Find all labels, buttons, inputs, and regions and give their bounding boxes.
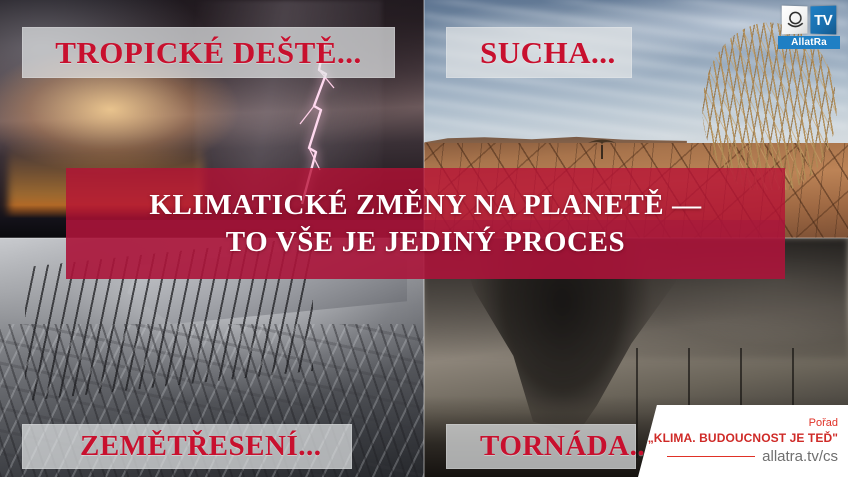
allatra-sphere-icon	[782, 6, 808, 35]
caption-earthquake-label: ZEMĚTŘESENÍ...	[80, 430, 321, 463]
tv-label: TV	[814, 11, 832, 28]
banner-text-block: KLIMATICKÉ ZMĚNY NA PLANETĚ — TO VŠE JE …	[66, 168, 785, 279]
caption-tropical-rain-label: TROPICKÉ DEŠTĚ...	[55, 35, 362, 71]
lone-tree-icon	[585, 129, 619, 164]
poster-title-line-2: TO VŠE JE JEDINÝ PROCES	[226, 225, 626, 259]
caption-tornado: TORNÁDA...	[446, 424, 636, 469]
caption-tropical-rain: TROPICKÉ DEŠTĚ...	[22, 27, 395, 78]
footer-kicker: Pořad	[809, 417, 838, 430]
footer-show-title: „KLIMA. BUDOUCNOST JE TEĎ"	[648, 431, 838, 445]
logo-marks: TV	[778, 6, 840, 34]
allatra-tv-logo[interactable]: TV AllatRa	[778, 6, 840, 56]
footer-url[interactable]: allatra.tv/cs	[762, 448, 838, 465]
poster-title-line-1: KLIMATICKÉ ZMĚNY NA PLANETĚ —	[149, 188, 701, 222]
tv-badge: TV	[811, 6, 837, 35]
footer-url-row: allatra.tv/cs	[638, 448, 838, 465]
caption-earthquake: ZEMĚTŘESENÍ...	[22, 424, 352, 469]
caption-tornado-label: TORNÁDA...	[480, 430, 653, 463]
caption-drought-label: SUCHA...	[480, 35, 616, 71]
climate-change-poster: TROPICKÉ DEŠTĚ... SUCHA... ZEMĚTŘESENÍ..…	[0, 0, 848, 477]
footer-rule	[667, 456, 755, 458]
caption-drought: SUCHA...	[446, 27, 632, 78]
footer-content: Pořad „KLIMA. BUDOUCNOST JE TEĎ" allatra…	[638, 405, 848, 477]
main-title-banner: KLIMATICKÉ ZMĚNY NA PLANETĚ — TO VŠE JE …	[66, 168, 785, 279]
allatra-brand-label: AllatRa	[778, 36, 840, 49]
footer-panel: Pořad „KLIMA. BUDOUCNOST JE TEĎ" allatra…	[638, 405, 848, 477]
